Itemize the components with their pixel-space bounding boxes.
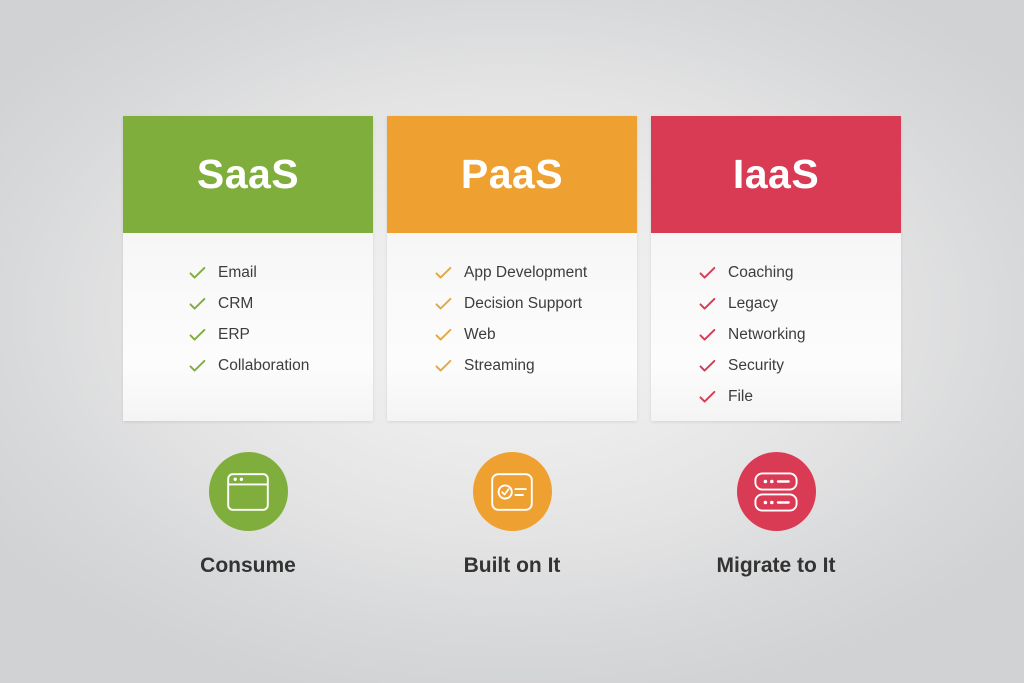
service-model-cards: SaaS Email CRM (123, 116, 901, 421)
check-icon (699, 297, 716, 311)
feature-label: Email (218, 265, 257, 281)
check-icon (699, 266, 716, 280)
list-item: Web (435, 319, 637, 350)
feature-label: Decision Support (464, 296, 582, 312)
card-title-iaas: IaaS (733, 154, 819, 195)
card-body-paas: App Development Decision Support Web (387, 233, 637, 421)
feature-label: ERP (218, 327, 250, 343)
check-icon (435, 359, 452, 373)
card-header-iaas: IaaS (651, 116, 901, 233)
list-item: Coaching (699, 257, 901, 288)
card-title-saas: SaaS (197, 154, 299, 195)
check-icon (699, 328, 716, 342)
icon-circle-paas[interactable] (473, 452, 552, 531)
check-icon (435, 266, 452, 280)
outcome-label-iaas: Migrate to It (717, 555, 836, 576)
list-item: Networking (699, 319, 901, 350)
feature-label: File (728, 389, 753, 405)
feature-list-iaas: Coaching Legacy Networking (651, 257, 901, 412)
card-body-saas: Email CRM ERP (123, 233, 373, 421)
card-paas[interactable]: PaaS App Development Decision Support (387, 116, 637, 421)
list-item: App Development (435, 257, 637, 288)
list-item: Streaming (435, 350, 637, 381)
id-card-check-icon (490, 472, 534, 512)
outcome-row: Consume Built on It (123, 452, 901, 582)
card-title-paas: PaaS (461, 154, 563, 195)
server-stack-icon (753, 471, 799, 513)
outcome-paas: Built on It (387, 452, 637, 582)
list-item: Email (189, 257, 373, 288)
check-icon (435, 328, 452, 342)
diagram-canvas: SaaS Email CRM (0, 0, 1024, 683)
feature-label: CRM (218, 296, 253, 312)
feature-label: Streaming (464, 358, 535, 374)
check-icon (435, 297, 452, 311)
card-iaas[interactable]: IaaS Coaching Legacy (651, 116, 901, 421)
check-icon (189, 328, 206, 342)
icon-circle-iaas[interactable] (737, 452, 816, 531)
card-body-iaas: Coaching Legacy Networking (651, 233, 901, 421)
list-item: Legacy (699, 288, 901, 319)
card-header-saas: SaaS (123, 116, 373, 233)
feature-list-paas: App Development Decision Support Web (387, 257, 637, 381)
list-item: Security (699, 350, 901, 381)
feature-list-saas: Email CRM ERP (123, 257, 373, 381)
list-item: File (699, 381, 901, 412)
feature-label: Coaching (728, 265, 794, 281)
icon-circle-saas[interactable] (209, 452, 288, 531)
card-saas[interactable]: SaaS Email CRM (123, 116, 373, 421)
check-icon (699, 390, 716, 404)
outcome-iaas: Migrate to It (651, 452, 901, 582)
list-item: Collaboration (189, 350, 373, 381)
feature-label: Networking (728, 327, 806, 343)
list-item: CRM (189, 288, 373, 319)
check-icon (699, 359, 716, 373)
feature-label: Collaboration (218, 358, 309, 374)
feature-label: App Development (464, 265, 587, 281)
outcome-label-saas: Consume (200, 555, 296, 576)
browser-window-icon (226, 472, 270, 512)
feature-label: Legacy (728, 296, 778, 312)
list-item: ERP (189, 319, 373, 350)
check-icon (189, 297, 206, 311)
feature-label: Security (728, 358, 784, 374)
list-item: Decision Support (435, 288, 637, 319)
check-icon (189, 359, 206, 373)
feature-label: Web (464, 327, 496, 343)
check-icon (189, 266, 206, 280)
outcome-saas: Consume (123, 452, 373, 582)
outcome-label-paas: Built on It (464, 555, 561, 576)
card-header-paas: PaaS (387, 116, 637, 233)
